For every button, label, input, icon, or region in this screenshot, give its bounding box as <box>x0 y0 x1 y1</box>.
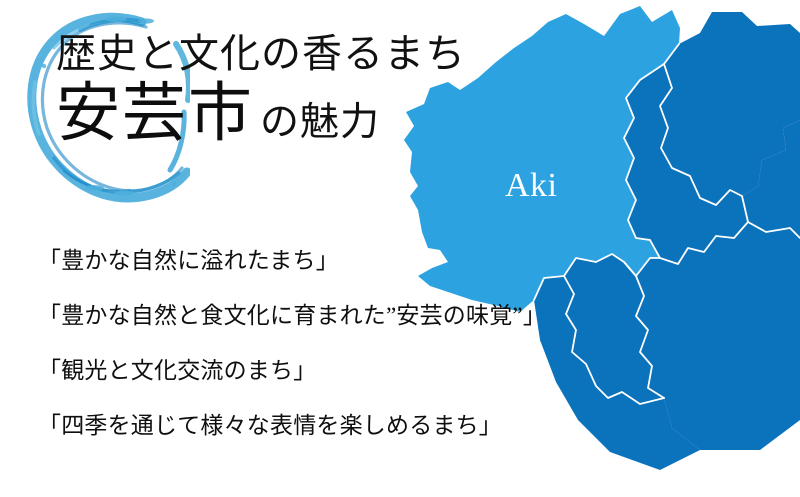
map-label-aki: Aki <box>505 167 558 204</box>
catchphrase-list: 「豊かな自然に溢れたまち」 「豊かな自然と食文化に育まれた”安芸の味覚”」 「観… <box>38 249 658 437</box>
title-city-name: 安芸市 <box>56 82 254 146</box>
catchphrase-item: 「豊かな自然と食文化に育まれた”安芸の味覚”」 <box>38 304 658 327</box>
title-line-2: 安芸市 の魅力 <box>56 82 476 146</box>
catchphrase-item: 「豊かな自然に溢れたまち」 <box>38 249 658 272</box>
title-text-group: 歴史と文化の香るまち 安芸市 の魅力 <box>56 34 476 146</box>
title-suffix: の魅力 <box>260 103 380 142</box>
poster-canvas: Aki <box>0 0 800 497</box>
title-block: 歴史と文化の香るまち 安芸市 の魅力 <box>0 0 470 215</box>
catchphrase-item: 「四季を通じて様々な表情を楽しめるまち」 <box>38 414 658 437</box>
title-line-1: 歴史と文化の香るまち <box>56 34 476 74</box>
catchphrase-item: 「観光と文化交流のまち」 <box>38 359 658 382</box>
